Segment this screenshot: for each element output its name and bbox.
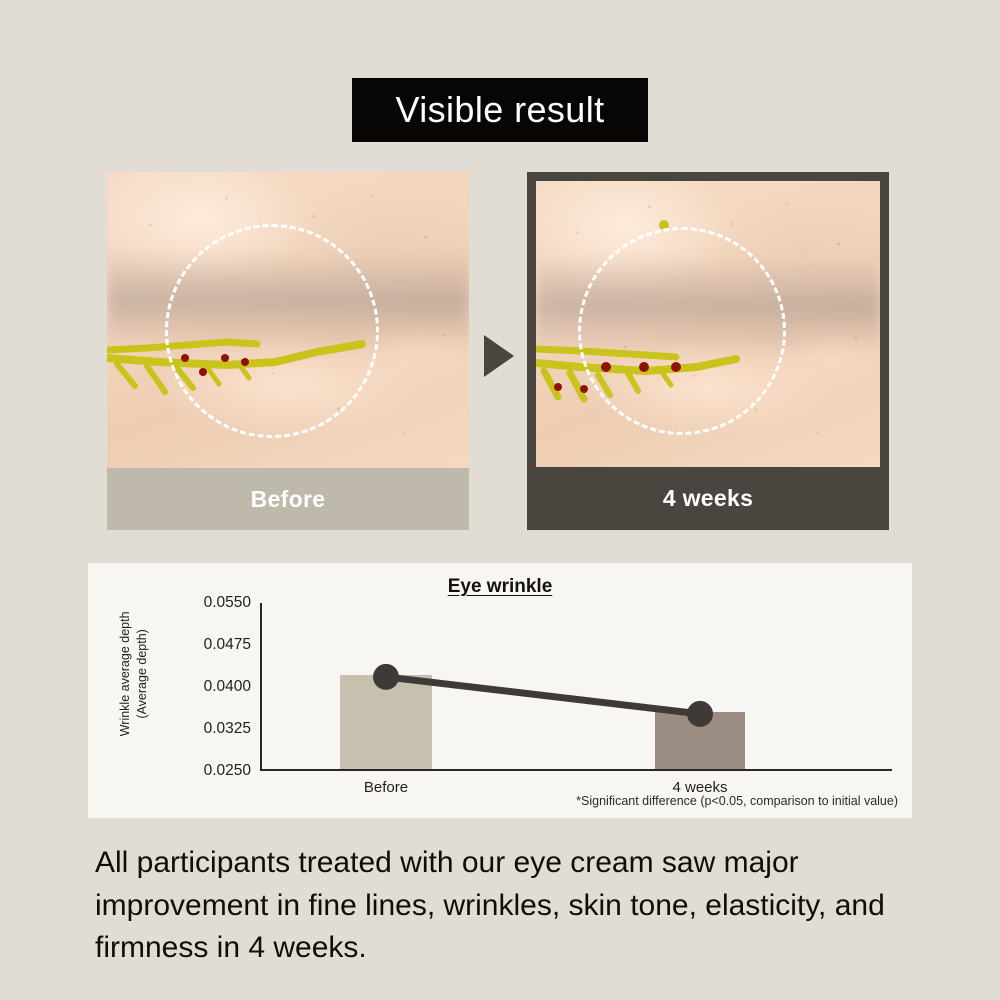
before-photo — [107, 172, 469, 468]
chart-footnote: *Significant difference (p<0.05, compari… — [576, 794, 898, 808]
before-caption: Before — [107, 468, 469, 530]
chart-y-axis-label: Wrinkle average depth (Average depth) — [117, 584, 151, 764]
infographic-page: Visible result Before — [0, 0, 1000, 1000]
focus-circle-overlay — [165, 224, 379, 438]
before-panel: Before — [107, 172, 469, 530]
visible-result-banner: Visible result — [352, 78, 648, 142]
trend-line — [260, 603, 892, 771]
y-axis-tick: 0.0550 — [204, 594, 251, 612]
y-axis-tick: 0.0400 — [204, 678, 251, 696]
y-axis-tick: 0.0475 — [204, 636, 251, 654]
y-axis-label-line2: (Average depth) — [134, 584, 151, 764]
before-caption-label: Before — [251, 486, 326, 513]
after-photo — [536, 181, 880, 467]
x-axis-tick: Before — [364, 779, 408, 796]
triangle-right-icon — [484, 335, 514, 377]
focus-circle-overlay — [578, 227, 786, 435]
y-axis-label-line1: Wrinkle average depth — [117, 584, 134, 764]
banner-title: Visible result — [395, 89, 604, 131]
y-axis-tick: 0.0250 — [204, 762, 251, 780]
after-panel: 4 weeks — [527, 172, 889, 530]
summary-paragraph: All participants treated with our eye cr… — [95, 842, 925, 970]
after-caption-label: 4 weeks — [663, 485, 753, 512]
eye-wrinkle-chart-card: Eye wrinkle Wrinkle average depth (Avera… — [88, 563, 912, 818]
chart-plot-area: 0.0550 0.0475 0.0400 0.0325 0.0250 Befor… — [260, 603, 892, 771]
y-axis-tick: 0.0325 — [204, 720, 251, 738]
after-caption: 4 weeks — [527, 467, 889, 530]
